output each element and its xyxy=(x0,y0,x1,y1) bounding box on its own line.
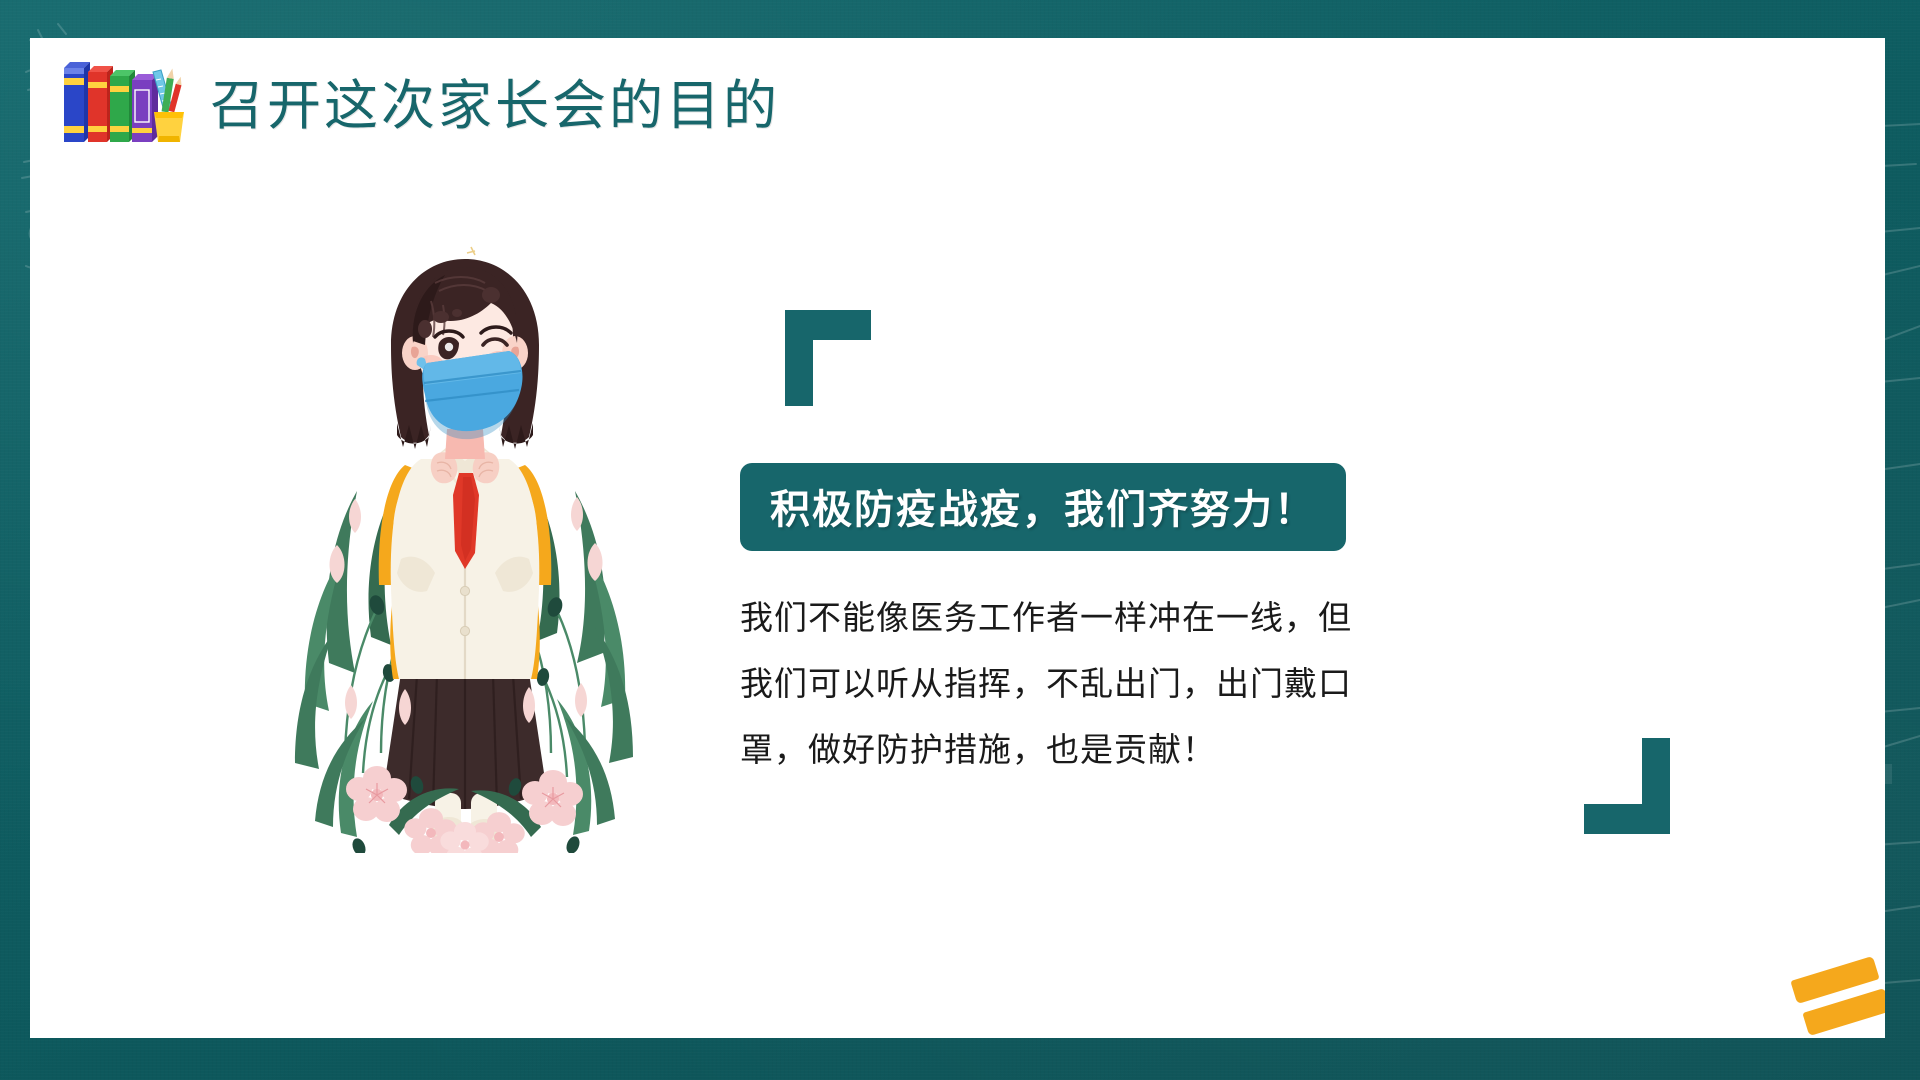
bracket-vertical-bar xyxy=(1642,738,1670,834)
highlight-banner: 积极防疫战疫，我们齐努力！ xyxy=(740,463,1346,551)
content-column: 积极防疫战疫，我们齐努力！ 我们不能像医务工作者一样冲在一线，但 我们可以听从指… xyxy=(740,463,1430,783)
body-paragraph: 我们不能像医务工作者一样冲在一线，但 我们可以听从指挥，不乱出门，出门戴口 罩，… xyxy=(740,585,1422,783)
corner-bracket-top-left xyxy=(785,310,871,406)
slide-header: 召开这次家长会的目的 xyxy=(60,56,780,144)
brand-logo xyxy=(1790,954,1885,1038)
paragraph-line-1: 我们不能像医务工作者一样冲在一线，但 xyxy=(740,585,1422,651)
stacked-books-and-pencil-cup-icon xyxy=(60,56,188,144)
paragraph-line-3: 罩，做好防护措施，也是贡献！ xyxy=(740,717,1422,783)
masked-schoolgirl-with-flowers-illustration xyxy=(285,233,645,853)
slide-panel: 召开这次家长会的目的 xyxy=(30,38,1885,1038)
paragraph-line-2: 我们可以听从指挥，不乱出门，出门戴口 xyxy=(740,651,1422,717)
page-title: 召开这次家长会的目的 xyxy=(210,61,780,140)
corner-bracket-bottom-right xyxy=(1584,738,1670,834)
bracket-vertical-bar xyxy=(785,310,813,406)
sparkle-icon xyxy=(467,247,475,255)
